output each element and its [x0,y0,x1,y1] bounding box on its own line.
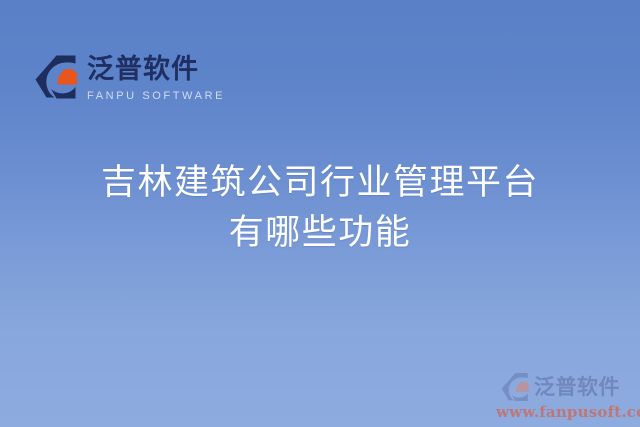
brand-name-en: FANPU SOFTWARE [87,90,225,103]
headline: 吉林建筑公司行业管理平台 有哪些功能 [0,158,640,258]
brand-lockup: 泛普软件 FANPU SOFTWARE [34,54,225,103]
brand-name-cn: 泛普软件 [87,55,225,85]
headline-line-1: 吉林建筑公司行业管理平台 [0,158,640,208]
watermark-url: www.fanpusoft.com [496,403,638,421]
banner-canvas: 泛普软件 FANPU SOFTWARE 吉林建筑公司行业管理平台 有哪些功能 泛… [0,0,640,427]
watermark-lockup: 泛普软件 [496,372,638,402]
fanpu-logo-icon [34,54,78,100]
fanpu-logo-watermark-icon [500,372,530,402]
headline-line-2: 有哪些功能 [0,208,640,258]
watermark: 泛普软件 www.fanpusoft.com [496,372,638,421]
watermark-name-cn: 泛普软件 [534,375,620,399]
brand-wordmark: 泛普软件 FANPU SOFTWARE [87,54,225,103]
